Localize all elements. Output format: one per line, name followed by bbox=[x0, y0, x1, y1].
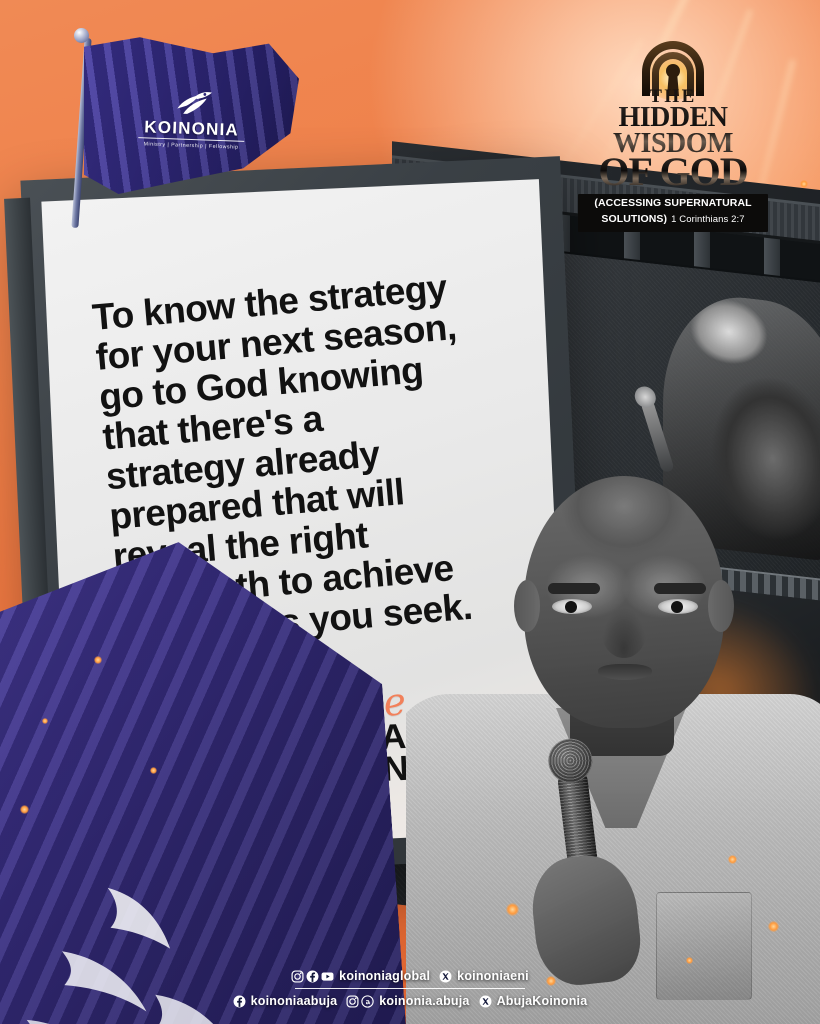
series-scripture-ref: 1 Corinthians 2:7 bbox=[671, 214, 745, 225]
dove-icon bbox=[171, 87, 214, 118]
series-the: THE bbox=[578, 87, 768, 106]
social-handle[interactable]: koinonia.abuja bbox=[379, 995, 469, 1008]
preacher-finger bbox=[536, 881, 614, 900]
preacher-eye-right bbox=[658, 599, 698, 614]
x-twitter-icon[interactable] bbox=[439, 970, 452, 983]
social-handle[interactable]: AbujaKoinonia bbox=[497, 995, 588, 1008]
flag-logo: KOINONIA Ministry | Partnership | Fellow… bbox=[135, 86, 249, 151]
flag-brand: KOINONIA bbox=[135, 118, 248, 139]
preacher-ear-right bbox=[708, 580, 734, 632]
instagram-icon[interactable] bbox=[291, 970, 304, 983]
ember-particle bbox=[800, 180, 808, 188]
social-group-koinonia-abuja[interactable]: koinonia.abuja bbox=[346, 995, 469, 1008]
preacher-finger bbox=[536, 855, 620, 874]
social-row-2: koinoniaabuja koinonia.abuja AbujaKoinon… bbox=[0, 995, 820, 1008]
draped-koinonia-flag bbox=[0, 529, 408, 1024]
social-group-koinoniaeni[interactable]: koinoniaeni bbox=[439, 970, 529, 983]
social-group-koinoniaabuja[interactable]: koinoniaabuja bbox=[233, 995, 338, 1008]
preacher-ear-left bbox=[514, 580, 540, 632]
instagram-icon[interactable] bbox=[346, 995, 359, 1008]
facebook-icon[interactable] bbox=[233, 995, 246, 1008]
social-handle[interactable]: koinoniaeni bbox=[457, 970, 529, 983]
preacher-portrait bbox=[406, 464, 820, 1024]
koinonia-flag: KOINONIA Ministry | Partnership | Fellow… bbox=[84, 34, 299, 194]
promo-graphic: KOINONIA Ministry | Partnership | Fellow… bbox=[0, 0, 820, 1024]
series-subtitle-line2: SOLUTIONS) bbox=[601, 213, 667, 225]
social-handle[interactable]: koinoniaglobal bbox=[339, 970, 430, 983]
series-subtitle-banner: (ACCESSING SUPERNATURAL SOLUTIONS)1 Cori… bbox=[578, 194, 768, 233]
facebook-icon[interactable] bbox=[306, 970, 319, 983]
preacher-nose bbox=[602, 608, 646, 658]
social-group-koinoniaglobal[interactable]: koinoniaglobal bbox=[291, 970, 430, 983]
social-footer: koinoniaglobal koinoniaeni koinoniaabuja… bbox=[0, 970, 820, 1008]
threads-icon[interactable] bbox=[361, 995, 374, 1008]
preacher-brow-right bbox=[654, 583, 706, 594]
preacher-mouth bbox=[598, 664, 652, 680]
series-title-lockup: THE HIDDEN WISDOM OF GOD (ACCESSING SUPE… bbox=[578, 38, 768, 232]
preacher-finger bbox=[536, 907, 608, 926]
series-of-god: OF GOD bbox=[578, 154, 768, 190]
youtube-icon[interactable] bbox=[321, 970, 334, 983]
social-group-abujakoinonia[interactable]: AbujaKoinonia bbox=[479, 995, 588, 1008]
series-subtitle-line1: (ACCESSING SUPERNATURAL bbox=[584, 198, 762, 210]
x-twitter-icon[interactable] bbox=[479, 995, 492, 1008]
footer-divider bbox=[295, 988, 525, 989]
social-row-1: koinoniaglobal koinoniaeni bbox=[0, 970, 820, 983]
preacher-brow-left bbox=[548, 583, 600, 594]
preacher-eye-left bbox=[552, 599, 592, 614]
social-handle[interactable]: koinoniaabuja bbox=[251, 995, 338, 1008]
